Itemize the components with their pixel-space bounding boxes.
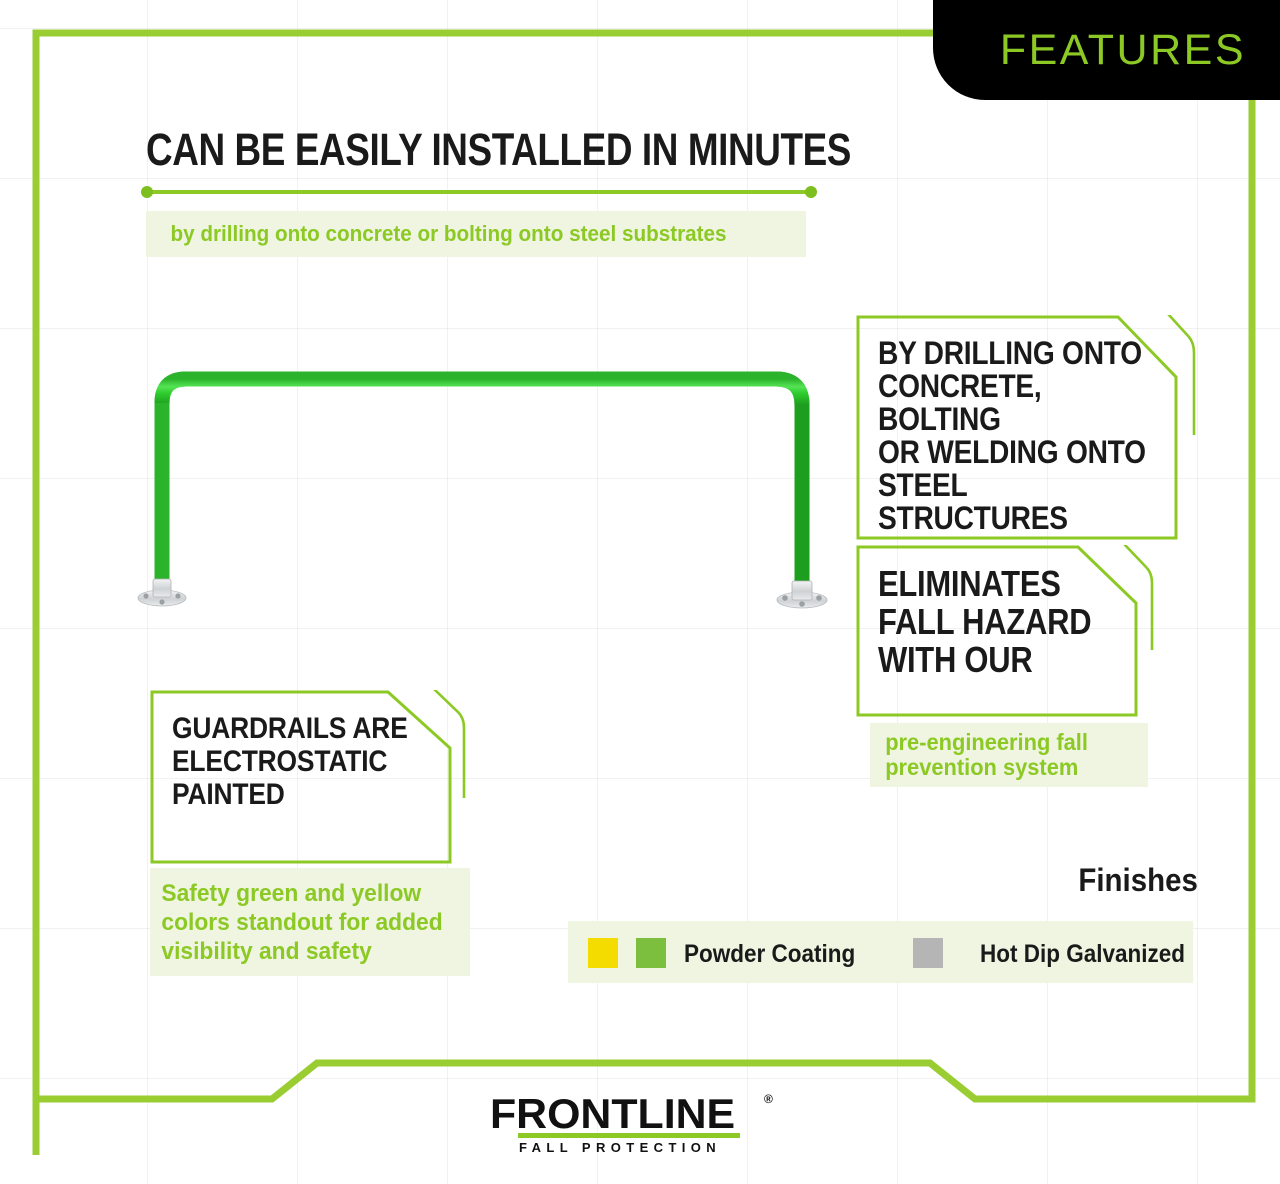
page-subtitle: by drilling onto concrete or bolting ont… xyxy=(146,221,727,247)
features-tab: FEATURES xyxy=(933,0,1280,100)
logo-registered-mark: ® xyxy=(764,1092,773,1106)
band-line: prevention system xyxy=(885,754,1078,780)
callout-drilling: BY DRILLING ONTO CONCRETE, BOLTING OR WE… xyxy=(856,315,1196,540)
callout-line: ELECTROSTATIC xyxy=(172,745,408,778)
callout-line: FALL HAZARD xyxy=(878,603,1091,641)
title-underline-rule xyxy=(146,190,812,194)
callout-eliminates-text: ELIMINATES FALL HAZARD WITH OUR xyxy=(878,565,1091,679)
band-line: visibility and safety xyxy=(161,938,371,965)
callout-line: OR WELDING ONTO xyxy=(878,436,1158,469)
finishes-heading: Finishes xyxy=(1079,862,1198,899)
finishes-legend-band: Powder Coating Hot Dip Galvanized xyxy=(568,921,1193,983)
guardrail-illustration xyxy=(120,355,840,610)
callout-line: WITH OUR xyxy=(878,641,1091,679)
logo-tagline: FALL PROTECTION xyxy=(519,1140,721,1155)
logo-wordmark: FRONTLINE xyxy=(490,1090,735,1138)
green-swatch xyxy=(636,938,666,968)
callout-line: CONCRETE, BOLTING xyxy=(878,370,1158,436)
callout-guardrails: GUARDRAILS ARE ELECTROSTATIC PAINTED xyxy=(150,690,470,865)
logo-green-bar xyxy=(518,1133,740,1138)
band-line: colors standout for added xyxy=(161,909,442,936)
callout-guardrails-band: Safety green and yellow colors standout … xyxy=(150,868,470,976)
rule-dot-right-icon xyxy=(805,186,817,198)
band-line: pre-engineering fall xyxy=(885,729,1088,755)
callout-guardrails-band-text: Safety green and yellow colors standout … xyxy=(150,879,443,966)
page-subtitle-band: by drilling onto concrete or bolting ont… xyxy=(146,211,806,257)
gray-swatch xyxy=(913,938,943,968)
callout-eliminates-band-text: pre-engineering fall prevention system xyxy=(870,730,1088,780)
features-tab-label: FEATURES xyxy=(1000,26,1246,75)
callout-line: GUARDRAILS ARE xyxy=(172,712,408,745)
callout-guardrails-text: GUARDRAILS ARE ELECTROSTATIC PAINTED xyxy=(172,712,408,811)
frontline-logo: FRONTLINE ® FALL PROTECTION xyxy=(490,1090,790,1152)
callout-eliminates: ELIMINATES FALL HAZARD WITH OUR xyxy=(856,545,1156,715)
callout-line: PAINTED xyxy=(172,778,408,811)
rule-dot-left-icon xyxy=(141,186,153,198)
band-line: Safety green and yellow xyxy=(161,880,421,907)
base-plate-left xyxy=(138,579,186,606)
callout-eliminates-band: pre-engineering fall prevention system xyxy=(870,723,1148,787)
page-title: CAN BE EASILY INSTALLED IN MINUTES xyxy=(146,124,851,176)
yellow-swatch xyxy=(588,938,618,968)
callout-line: BY DRILLING ONTO xyxy=(878,337,1158,370)
legend-label-powder-coating: Powder Coating xyxy=(684,940,855,969)
callout-line: STEEL STRUCTURES xyxy=(878,469,1158,535)
callout-line: ELIMINATES xyxy=(878,565,1091,603)
callout-drilling-text: BY DRILLING ONTO CONCRETE, BOLTING OR WE… xyxy=(878,337,1158,535)
base-plate-right xyxy=(777,581,827,608)
legend-label-hot-dip-galvanized: Hot Dip Galvanized xyxy=(980,940,1185,969)
